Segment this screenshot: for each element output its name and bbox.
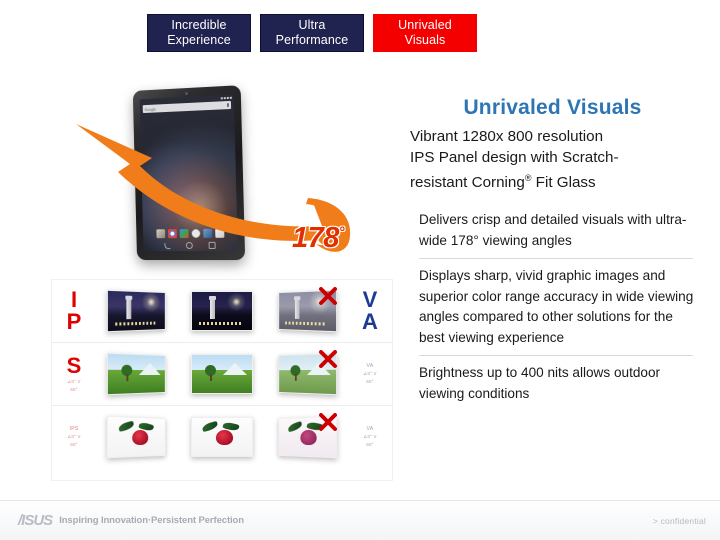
lighthouse-scene bbox=[108, 291, 165, 331]
rose-shape bbox=[300, 430, 316, 445]
tree-shape bbox=[122, 365, 133, 376]
intro-line-3: resistant Corning bbox=[410, 174, 525, 191]
ips-label-left: I P bbox=[52, 289, 96, 333]
ips-angle-value: 60° bbox=[52, 387, 96, 393]
ips-letter-s: S bbox=[52, 355, 96, 377]
comparison-row-lighthouse: I P bbox=[52, 280, 392, 343]
intro-line-1: Vibrant 1280x 800 resolution bbox=[410, 128, 603, 145]
ips-letter-i: I bbox=[52, 289, 96, 311]
lighthouse-scene bbox=[192, 292, 252, 330]
divider bbox=[0, 500, 720, 501]
panel-group bbox=[96, 291, 348, 331]
display-panel bbox=[107, 416, 166, 459]
panel-group bbox=[96, 417, 348, 457]
va-label-right: VA ∠0° V 60° bbox=[348, 426, 392, 447]
rose-shape bbox=[132, 430, 148, 445]
tab-label-line1: Unrivaled bbox=[398, 18, 452, 33]
va-name: VA bbox=[348, 426, 392, 432]
va-name: VA bbox=[348, 363, 392, 369]
va-angle-spec: ∠0° V bbox=[348, 371, 392, 377]
ips-name: IPS bbox=[52, 426, 96, 432]
display-panel bbox=[107, 290, 166, 333]
rose-scene bbox=[279, 417, 336, 457]
intro-paragraph: Vibrant 1280x 800 resolution IPS Panel d… bbox=[410, 126, 695, 193]
lighthouse-scene bbox=[279, 291, 336, 331]
tree-shape bbox=[291, 365, 301, 376]
intro-line-3-tail: Fit Glass bbox=[531, 174, 595, 191]
meadow-scene bbox=[279, 354, 336, 394]
tab-label-line1: Ultra bbox=[299, 18, 326, 33]
page-title: Unrivaled Visuals bbox=[410, 96, 695, 120]
ips-label-left: IPS ∠0° V 60° bbox=[52, 426, 96, 447]
content-column: Unrivaled Visuals Vibrant 1280x 800 reso… bbox=[410, 96, 695, 411]
va-label-right: V A bbox=[348, 289, 392, 333]
display-panel bbox=[191, 291, 253, 331]
viewing-angle-label: 178° bbox=[292, 222, 344, 255]
lighthouse-shape bbox=[210, 299, 215, 319]
meadow-scene bbox=[192, 355, 252, 393]
display-panel bbox=[191, 354, 253, 394]
ips-angle-spec: ∠0° V bbox=[52, 379, 96, 385]
tablet-illustration: Google bbox=[60, 80, 405, 285]
slide-canvas: Incredible Experience Ultra Performance … bbox=[0, 0, 720, 540]
lighthouse-shape bbox=[126, 299, 131, 319]
panel-group bbox=[96, 354, 348, 394]
window-lights bbox=[199, 322, 241, 325]
rose-scene bbox=[108, 417, 165, 457]
tab-ultra-performance[interactable]: Ultra Performance bbox=[260, 14, 364, 52]
slide-footer: /ISUS Inspiring Innovation·Persistent Pe… bbox=[0, 500, 720, 540]
lighthouse-shape bbox=[295, 300, 300, 320]
comparison-row-rose: IPS ∠0° V 60° bbox=[52, 406, 392, 468]
tab-label-line2: Visuals bbox=[405, 33, 446, 48]
intro-line-2: IPS Panel design with Scratch- bbox=[410, 149, 619, 166]
asus-tagline: Inspiring Innovation·Persistent Perfecti… bbox=[59, 515, 244, 526]
section-tabs: Incredible Experience Ultra Performance … bbox=[147, 14, 477, 52]
ips-vs-va-comparison: I P bbox=[52, 280, 392, 480]
va-angle-spec: ∠0° V bbox=[348, 434, 392, 440]
confidential-notice: > confidential bbox=[653, 516, 706, 526]
feature-bullet-2: Displays sharp, vivid graphic images and… bbox=[410, 259, 695, 355]
rose-scene bbox=[192, 418, 252, 456]
mountain-shape bbox=[139, 363, 161, 375]
viewing-angle-arrow-icon bbox=[60, 80, 405, 285]
tab-incredible-experience[interactable]: Incredible Experience bbox=[147, 14, 251, 52]
display-panel-degraded bbox=[278, 416, 337, 459]
tab-label-line2: Experience bbox=[167, 33, 231, 48]
tree-shape bbox=[205, 365, 216, 376]
comparison-row-meadow: S ∠0° V 60° bbox=[52, 343, 392, 406]
rose-shape bbox=[216, 430, 233, 445]
meadow-scene bbox=[108, 354, 165, 394]
ips-label-left: S ∠0° V 60° bbox=[52, 355, 96, 392]
tab-unrivaled-visuals[interactable]: Unrivaled Visuals bbox=[373, 14, 477, 52]
va-angle-value: 60° bbox=[348, 442, 392, 448]
leaf-shape bbox=[287, 421, 303, 433]
va-label-right: VA ∠0° V 60° bbox=[348, 363, 392, 384]
angle-value: 178 bbox=[292, 222, 339, 254]
mountain-shape bbox=[307, 362, 331, 375]
ips-letter-p: P bbox=[52, 311, 96, 333]
ips-angle-spec: ∠0° V bbox=[52, 434, 96, 440]
leaf-shape bbox=[201, 421, 218, 433]
degree-symbol: ° bbox=[339, 223, 344, 239]
leaf-shape bbox=[117, 421, 134, 433]
tab-label-line2: Performance bbox=[276, 33, 349, 48]
asus-logo-icon: /ISUS bbox=[18, 512, 52, 529]
display-panel bbox=[107, 353, 166, 396]
feature-bullet-3: Brightness up to 400 nits allows outdoor… bbox=[410, 356, 695, 411]
window-lights bbox=[285, 321, 325, 325]
va-letter-v: V bbox=[348, 289, 392, 311]
va-angle-value: 60° bbox=[348, 379, 392, 385]
ips-angle-value: 60° bbox=[52, 442, 96, 448]
mountain-shape bbox=[223, 363, 247, 375]
display-panel bbox=[191, 417, 253, 457]
asus-branding: /ISUS Inspiring Innovation·Persistent Pe… bbox=[18, 512, 244, 529]
feature-bullet-1: Delivers crisp and detailed visuals with… bbox=[410, 203, 695, 258]
va-letter-a: A bbox=[348, 311, 392, 333]
window-lights bbox=[115, 321, 155, 325]
display-panel-degraded bbox=[278, 353, 337, 396]
display-panel-degraded bbox=[278, 290, 337, 333]
tab-label-line1: Incredible bbox=[171, 18, 226, 33]
